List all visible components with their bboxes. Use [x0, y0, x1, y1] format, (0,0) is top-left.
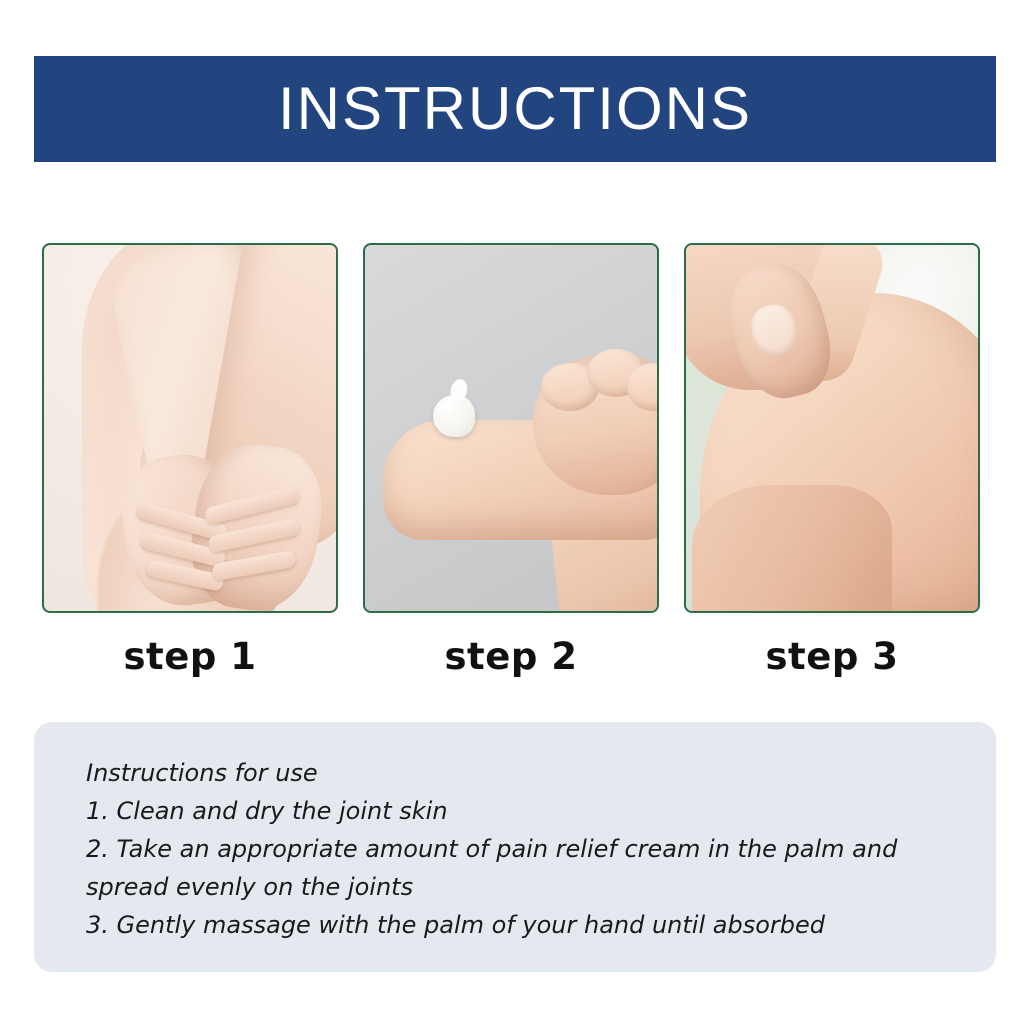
step-2-label: step 2: [363, 635, 659, 678]
instructions-page: INSTRUCTIONS step 1: [0, 0, 1024, 1024]
upper-arm-shape: [692, 485, 892, 613]
header-banner: INSTRUCTIONS: [34, 56, 996, 162]
cream-dab-shape: [433, 395, 475, 437]
shoulder-massage-photo: [684, 243, 980, 613]
instructions-step-2: 2. Take an appropriate amount of pain re…: [86, 830, 944, 906]
cream-on-fingertip-photo: [363, 243, 659, 613]
instructions-heading: Instructions for use: [86, 754, 944, 792]
instructions-step-1: 1. Clean and dry the joint skin: [86, 792, 944, 830]
step-3: step 3: [684, 243, 980, 678]
step-1-label: step 1: [42, 635, 338, 678]
knee-pain-hands-photo: [42, 243, 338, 613]
step-1: step 1: [42, 243, 338, 678]
steps-row: step 1 step 2: [42, 243, 980, 678]
page-title: INSTRUCTIONS: [278, 79, 752, 139]
instructions-box: Instructions for use 1. Clean and dry th…: [34, 722, 996, 972]
step-3-label: step 3: [684, 635, 980, 678]
instructions-step-3: 3. Gently massage with the palm of your …: [86, 906, 944, 944]
step-2: step 2: [363, 243, 659, 678]
